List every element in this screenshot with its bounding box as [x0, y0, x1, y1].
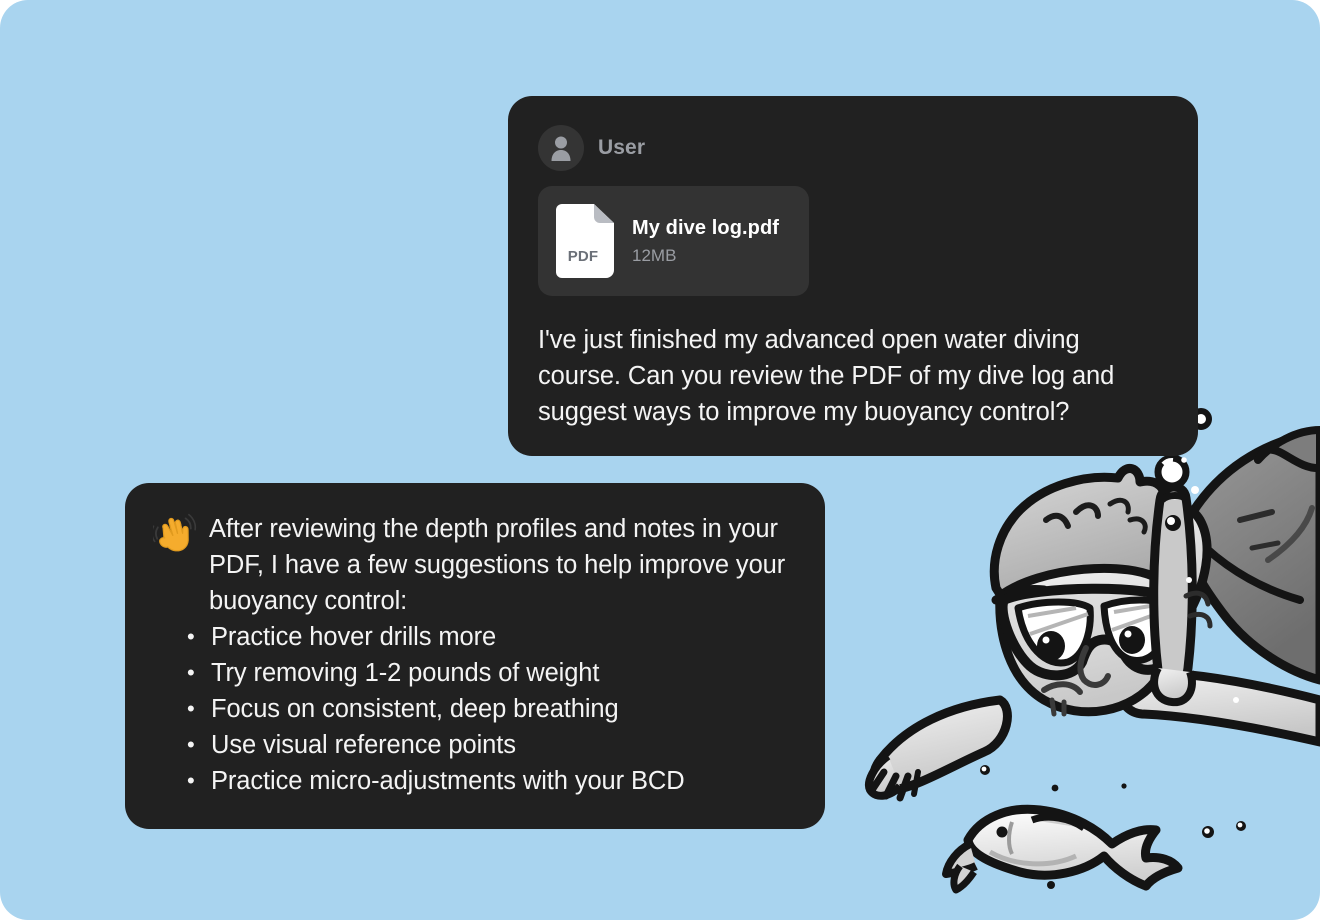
list-item: Practice hover drills more	[211, 619, 795, 655]
suggestion-list: Practice hover drills more Try removing …	[153, 619, 795, 799]
assistant-intro-row: After reviewing the depth profiles and n…	[153, 511, 795, 619]
avatar	[538, 125, 584, 171]
assistant-message-bubble: After reviewing the depth profiles and n…	[125, 483, 825, 829]
assistant-intro-text: After reviewing the depth profiles and n…	[209, 511, 795, 619]
attachment-filesize: 12MB	[632, 246, 779, 266]
attachment-filename: My dive log.pdf	[632, 217, 779, 240]
user-message-bubble: User PDF My dive log.pdf 12MB I've just …	[508, 96, 1198, 456]
chat-thread: User PDF My dive log.pdf 12MB I've just …	[0, 0, 1320, 920]
list-item: Use visual reference points	[211, 727, 795, 763]
page-root: User PDF My dive log.pdf 12MB I've just …	[0, 0, 1320, 920]
attachment-meta: My dive log.pdf 12MB	[632, 217, 779, 266]
waving-hand-emoji	[153, 512, 197, 556]
pdf-file-icon: PDF	[556, 204, 614, 278]
person-icon	[548, 134, 574, 162]
list-item: Focus on consistent, deep breathing	[211, 691, 795, 727]
attachment-card[interactable]: PDF My dive log.pdf 12MB	[538, 186, 809, 296]
pdf-icon-label: PDF	[556, 248, 610, 265]
user-header: User	[538, 124, 1168, 172]
user-name-label: User	[598, 136, 645, 160]
user-message-text: I've just finished my advanced open wate…	[538, 322, 1168, 430]
list-item: Practice micro-adjustments with your BCD	[211, 763, 795, 799]
list-item: Try removing 1-2 pounds of weight	[211, 655, 795, 691]
